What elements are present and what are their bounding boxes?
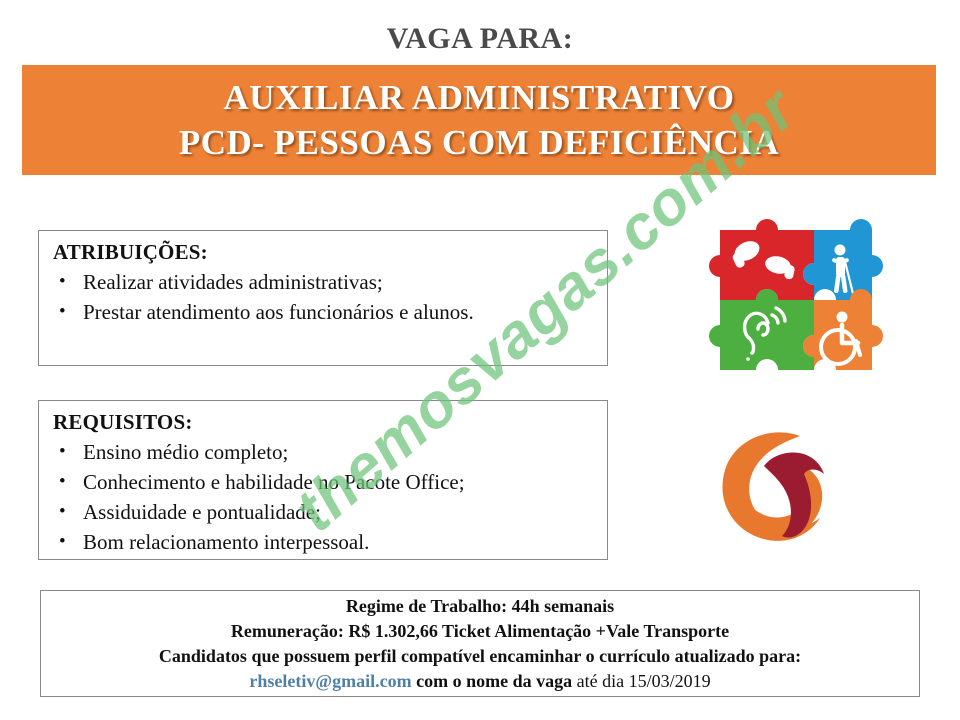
eyebrow-label: VAGA PARA: — [0, 22, 960, 56]
email-suffix-text: com o nome da vaga — [412, 671, 577, 691]
list-item: Bom relacionamento interpessoal. — [53, 527, 607, 557]
compensation-line: Remuneração: R$ 1.302,66 Ticket Alimenta… — [231, 619, 729, 644]
list-item: Realizar atividades administrativas; — [53, 267, 607, 297]
list-item: Prestar atendimento aos funcionários e a… — [53, 297, 607, 327]
list-item: Conhecimento e habilidade no Pacote Offi… — [53, 467, 607, 497]
list-item: Assiduidade e pontualidade; — [53, 497, 607, 527]
job-title-line-1: AUXILIAR ADMINISTRATIVO — [224, 75, 735, 120]
footer-details-box: Regime de Trabalho: 44h semanais Remuner… — [40, 590, 920, 697]
job-title-line-2: PCD- PESSOAS COM DEFICIÊNCIA — [179, 120, 779, 165]
work-schedule-line: Regime de Trabalho: 44h semanais — [346, 594, 614, 619]
email-link[interactable]: rhseletiv@gmail.com — [249, 671, 411, 691]
requirements-list: Ensino médio completo; Conhecimento e ha… — [39, 437, 607, 557]
puzzle-piece-wheelchair — [803, 289, 883, 370]
job-posting-poster: VAGA PARA: AUXILIAR ADMINISTRATIVO PCD- … — [0, 0, 960, 720]
puzzle-piece-hearing — [709, 289, 814, 370]
accessibility-puzzle-icon — [690, 195, 890, 385]
application-instructions-line: Candidatos que possuem perfil compatível… — [159, 644, 801, 669]
company-logo-icon — [712, 422, 842, 552]
list-item: Ensino médio completo; — [53, 437, 607, 467]
job-title-banner: AUXILIAR ADMINISTRATIVO PCD- PESSOAS COM… — [22, 65, 936, 175]
deadline-text: até dia 15/03/2019 — [577, 671, 711, 691]
requirements-box: REQUISITOS: Ensino médio completo; Conhe… — [38, 400, 608, 560]
requirements-heading: REQUISITOS: — [53, 410, 607, 435]
puzzle-piece-sign-language — [709, 219, 814, 300]
responsibilities-box: ATRIBUIÇÕES: Realizar atividades adminis… — [38, 230, 608, 366]
responsibilities-list: Realizar atividades administrativas; Pre… — [39, 267, 607, 327]
responsibilities-heading: ATRIBUIÇÕES: — [53, 240, 607, 265]
contact-line: rhseletiv@gmail.com com o nome da vaga a… — [249, 669, 710, 694]
puzzle-piece-visual-impairment — [803, 219, 883, 300]
